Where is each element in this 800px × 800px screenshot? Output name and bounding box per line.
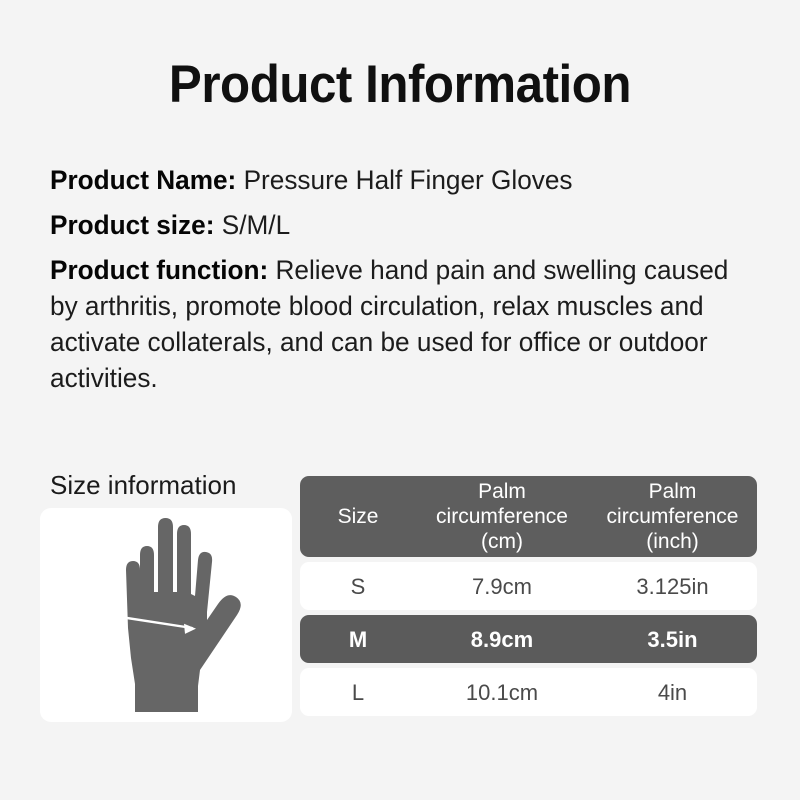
header-cell-palm-cm-line2: circumference [416,504,588,529]
header-cell-palm-cm: Palm circumference (cm) [416,479,588,554]
product-specs: Product Name: Pressure Half Finger Glove… [50,162,762,396]
spec-product-function: Product function: Relieve hand pain and … [50,252,741,396]
header-cell-size: Size [300,504,416,529]
spec-product-name: Product Name: Pressure Half Finger Glove… [50,162,741,199]
cell-size: M [300,627,416,652]
spec-product-size-value: S/M/L [222,210,290,240]
spec-product-size-label: Product size: [50,210,214,240]
size-information-label: Size information [50,470,236,501]
cell-palm-cm: 10.1cm [416,680,588,705]
hand-palm-measure-diagram [40,508,292,722]
header-cell-palm-cm-line3: (cm) [416,529,588,554]
page-title: Product Information [28,58,772,111]
hand-measure-card [40,508,292,722]
size-chart-table: Size Palm circumference (cm) Palm circum… [300,476,757,716]
cell-size: S [300,574,416,599]
header-cell-palm-cm-line1: Palm [416,479,588,504]
header-cell-palm-inch: Palm circumference (inch) [588,479,757,554]
spec-product-function-label: Product function: [50,255,268,285]
spec-product-name-label: Product Name: [50,165,236,195]
cell-palm-inch: 3.125in [588,574,757,599]
table-header-row: Size Palm circumference (cm) Palm circum… [300,476,757,557]
header-cell-palm-inch-line3: (inch) [588,529,757,554]
cell-palm-cm: 8.9cm [416,627,588,652]
cell-palm-cm: 7.9cm [416,574,588,599]
hand-silhouette [126,518,241,712]
cell-palm-inch: 4in [588,680,757,705]
cell-size: L [300,680,416,705]
cell-palm-inch: 3.5in [588,627,757,652]
table-row: S 7.9cm 3.125in [300,562,757,610]
header-cell-palm-inch-line2: circumference [588,504,757,529]
spec-product-name-value: Pressure Half Finger Gloves [244,165,573,195]
table-row: L 10.1cm 4in [300,668,757,716]
spec-product-size: Product size: S/M/L [50,207,741,244]
table-row: M 8.9cm 3.5in [300,615,757,663]
header-cell-palm-inch-line1: Palm [588,479,757,504]
